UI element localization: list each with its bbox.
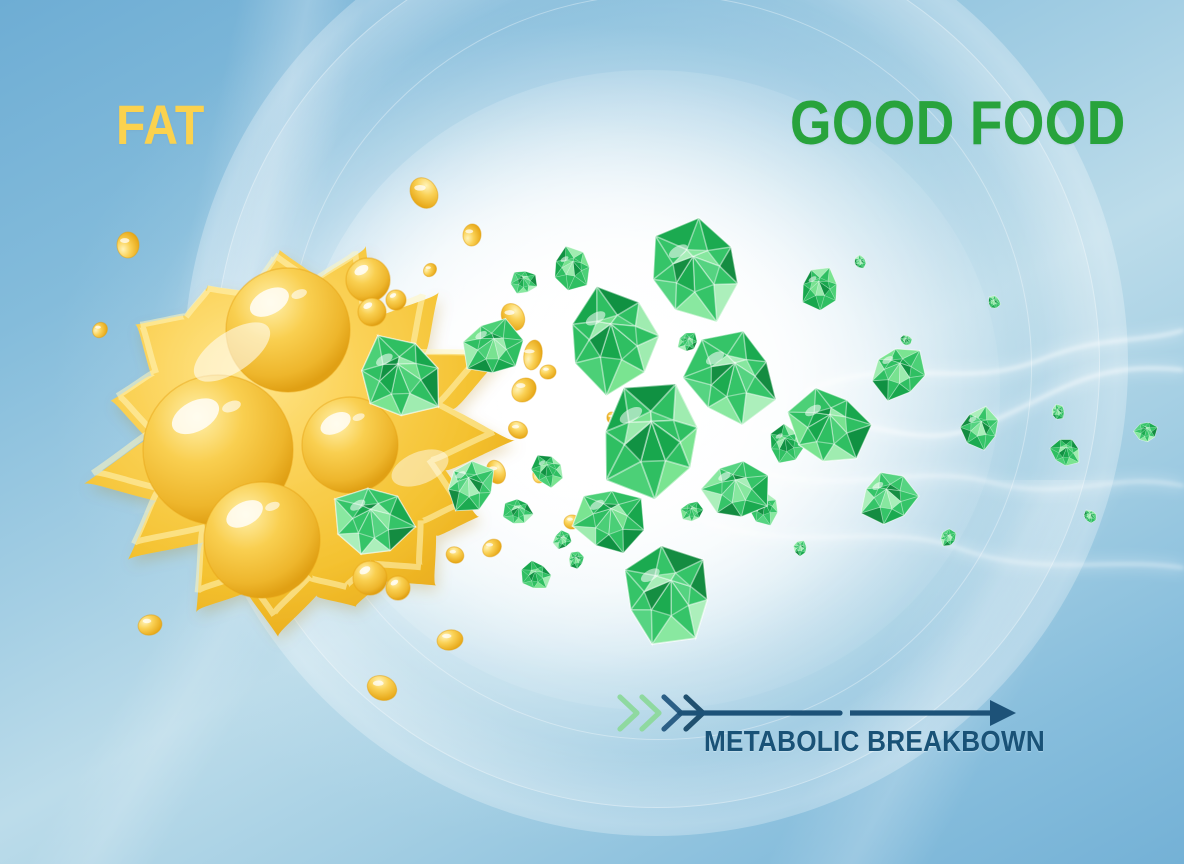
metabolic-arrow-block: METABOLIC BREAKBOWN <box>612 690 1022 772</box>
oil-droplet-18 <box>564 515 580 529</box>
fat-bubble-2 <box>143 375 293 525</box>
crystal-22 <box>960 406 998 450</box>
fat-bubble-highlight-8 <box>358 565 371 576</box>
crystal-30 <box>788 388 872 461</box>
oil-droplet-2 <box>90 319 111 340</box>
fat-bubble-highlight-4 <box>222 494 268 533</box>
crystal-31 <box>362 336 438 416</box>
fat-bubble-1 <box>226 268 350 392</box>
light-trail-4 <box>700 520 1184 568</box>
oil-droplet-11 <box>522 339 545 372</box>
crystal-17 <box>531 455 563 487</box>
crystal-24 <box>872 349 925 401</box>
fat-blob-rim <box>93 251 494 615</box>
crystal-10 <box>678 333 697 351</box>
crystal-6 <box>793 541 806 557</box>
fat-bubble-highlight-3 <box>317 407 355 439</box>
light-trail-glow-4 <box>700 520 1184 568</box>
crystal-1 <box>900 335 912 345</box>
crystal-19 <box>771 424 805 463</box>
background-sheen-left <box>12 0 488 520</box>
light-trail-3 <box>804 330 1184 392</box>
crystal-8 <box>941 529 956 546</box>
light-trail-2 <box>742 466 1184 489</box>
good-food-heading: GOOD FOOD <box>790 88 1126 159</box>
crystal-26 <box>463 319 523 373</box>
fat-heading: FAT <box>116 92 205 157</box>
crystal-23 <box>448 461 493 511</box>
crystal-13 <box>511 271 537 293</box>
fat-bubble-9 <box>386 576 410 600</box>
oil-droplet-5 <box>404 173 443 214</box>
crystal-2 <box>1084 510 1096 523</box>
fat-bubble-6 <box>358 298 386 326</box>
oil-droplet-10 <box>497 300 529 335</box>
crystal-14 <box>503 499 533 523</box>
crystal-35 <box>572 287 659 396</box>
fat-blob-body <box>84 246 515 637</box>
oil-droplet-3 <box>136 612 165 638</box>
crystal-34 <box>625 546 707 644</box>
crystal-16 <box>1050 440 1079 466</box>
background-sheen-bottom <box>0 560 340 864</box>
oil-droplet-16 <box>531 463 549 484</box>
crystal-9 <box>553 530 572 549</box>
light-trail-glow-2 <box>742 466 1184 489</box>
fat-bubble-3 <box>302 397 398 493</box>
arrow-chevron-2 <box>642 697 659 729</box>
fat-blob-gloss-2 <box>386 442 454 494</box>
crystal-18 <box>750 492 778 525</box>
fat-blob-group <box>84 246 515 637</box>
crystal-3 <box>989 296 1001 309</box>
fat-bubble-5 <box>346 258 390 302</box>
fat-bubble-highlight-5 <box>353 263 370 278</box>
oil-droplet-8 <box>435 628 464 653</box>
crystal-32 <box>683 331 776 425</box>
light-trail-glow-1 <box>760 368 1184 435</box>
crystal-29 <box>335 488 415 554</box>
infographic-canvas: FAT GOOD FOOD METABOLIC BREAKBOWN <box>0 0 1184 864</box>
arrow-chevron-1 <box>620 697 637 729</box>
crystal-33 <box>653 218 738 322</box>
fat-bubble-8 <box>353 561 387 595</box>
light-trail-glow-3 <box>804 330 1184 392</box>
oil-droplet-9 <box>443 544 466 566</box>
fat-bubble-highlight-9 <box>390 579 399 587</box>
light-trail-1 <box>760 368 1184 435</box>
oil-droplet-13 <box>539 364 556 380</box>
background-center-glow <box>300 70 1000 710</box>
crystal-20 <box>555 246 589 290</box>
crystal-11 <box>681 502 704 521</box>
fat-bubble-highlight-2 <box>166 391 225 441</box>
crystal-36 <box>606 384 698 499</box>
oil-droplet-1 <box>117 232 139 258</box>
oil-droplet-12 <box>507 373 541 407</box>
metabolic-breakdown-caption: METABOLIC BREAKBOWN <box>704 726 1045 759</box>
crystal-25 <box>861 473 919 525</box>
oil-droplet-20 <box>605 411 618 425</box>
crystal-12 <box>1134 423 1158 442</box>
fat-bubble-7 <box>386 290 406 310</box>
crystal-21 <box>803 268 837 311</box>
fat-bubble-highlight-1 <box>245 281 294 323</box>
oil-droplet-19 <box>591 291 609 309</box>
oil-droplet-4 <box>364 671 401 704</box>
light-trails <box>700 330 1184 568</box>
fat-bubble-highlight-6 <box>362 301 373 310</box>
oil-droplet-7 <box>421 261 439 279</box>
background-sheen-right <box>640 480 1184 864</box>
oil-droplet-15 <box>483 458 509 487</box>
crystal-5 <box>1052 404 1064 419</box>
crystal-27 <box>701 461 768 516</box>
arrow-head <box>990 700 1016 726</box>
oil-droplet-6 <box>462 223 482 246</box>
crystal-group <box>335 218 1158 644</box>
fat-bubble-highlight-7 <box>389 292 397 299</box>
oil-droplet-group <box>90 173 619 705</box>
crystal-7 <box>569 552 584 569</box>
fat-bubble-4 <box>204 482 320 598</box>
crystal-28 <box>573 491 645 553</box>
crystal-4 <box>855 255 866 268</box>
oil-droplet-14 <box>505 418 530 442</box>
crystal-15 <box>522 561 552 588</box>
fat-blob-gloss <box>184 311 279 393</box>
oil-droplet-17 <box>479 536 505 561</box>
